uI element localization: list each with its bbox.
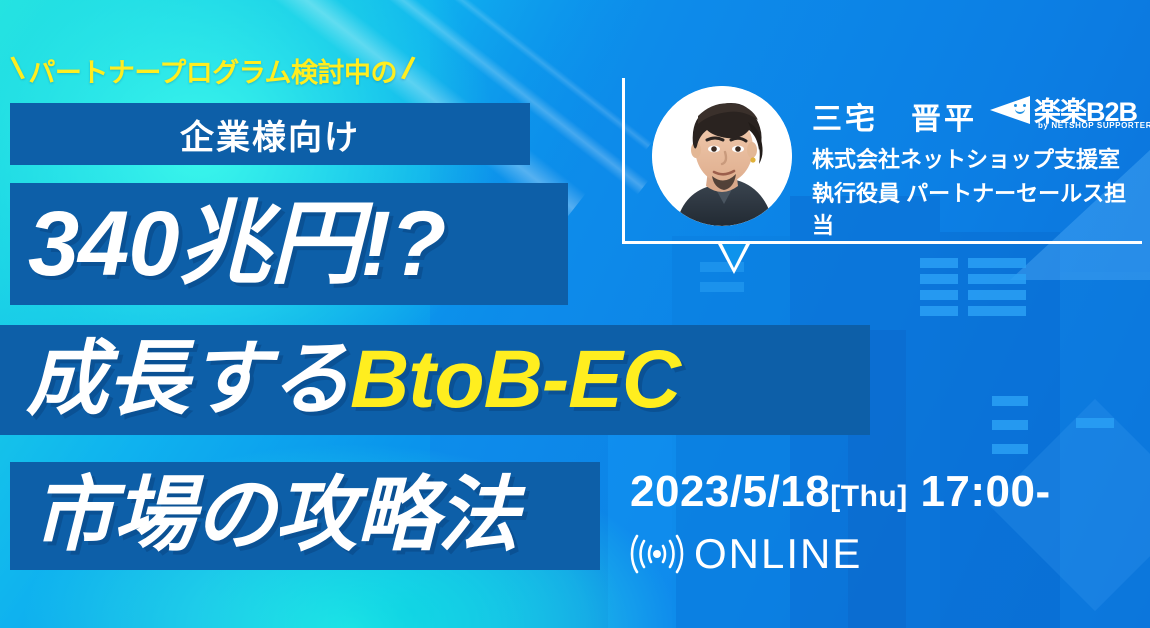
slash-left-icon: \ (9, 49, 27, 87)
headline-2-plain: 成長する (26, 334, 350, 425)
decor-window-row (992, 444, 1028, 454)
event-datetime: 2023/5/18[Thu] 17:00- (630, 470, 1150, 514)
headline-3-text: 市場の攻略法 (32, 475, 518, 557)
headline-2-highlight: BtoB-EC (350, 334, 680, 425)
subtitle-text: 企業様向け (180, 110, 360, 159)
event-date: 2023/5/18 (630, 467, 830, 516)
headline-bar-1: 340兆円!? (10, 183, 568, 305)
decor-window-row (1076, 418, 1114, 428)
kicker-line: \ パートナープログラム検討中の / (14, 48, 554, 92)
speaker-name: 三宅 晋平 (812, 94, 977, 138)
decor-window-row (920, 274, 958, 284)
headline-group: \ パートナープログラム検討中の / 企業様向け 340兆円!? 成長するBto… (0, 0, 640, 628)
decor-window-row (968, 290, 1026, 300)
decor-window-row (992, 420, 1028, 430)
headline-1-text: 340兆円!? (28, 198, 445, 290)
speaker-title: 執行役員 パートナーセールス担当 (812, 176, 1142, 240)
decor-window-row (920, 306, 958, 316)
headline-bar-3: 市場の攻略法 (10, 462, 600, 570)
wifi-broadcast-icon (630, 533, 684, 575)
headline-2-text: 成長するBtoB-EC (26, 339, 680, 421)
event-time: 17:00- (920, 467, 1050, 516)
speaker-block: 三宅 晋平 株式会社ネットショップ支援室 執行役員 パートナーセールス担当 楽楽… (622, 78, 1142, 246)
decor-window-row (968, 258, 1026, 268)
speech-bubble-tail-inner (722, 244, 746, 268)
decor-window-row (968, 274, 1026, 284)
event-info: 2023/5/18[Thu] 17:00- ONLINE (630, 470, 1150, 610)
decor-window-row (700, 282, 744, 292)
event-mode: ONLINE (630, 530, 1150, 578)
event-mode-label: ONLINE (694, 530, 862, 578)
headline-bar-2: 成長するBtoB-EC (0, 325, 870, 435)
event-day-of-week: [Thu] (830, 480, 907, 513)
decor-window-row (968, 306, 1026, 316)
avatar (652, 86, 792, 226)
decor-window-row (920, 290, 958, 300)
slash-right-icon: / (399, 49, 417, 87)
smiley-face-icon (1012, 104, 1030, 116)
decor-window-row (920, 258, 958, 268)
subtitle-bar: 企業様向け (10, 103, 530, 165)
speaker-company: 株式会社ネットショップ支援室 (812, 142, 1120, 174)
kicker-text: パートナープログラム検討中の (28, 51, 397, 90)
decor-window-row (992, 396, 1028, 406)
webinar-banner: \ パートナープログラム検討中の / 企業様向け 340兆円!? 成長するBto… (0, 0, 1150, 628)
rakuraku-b2b-logo: 楽楽B2B by NETSHOP SUPPORTERS (990, 90, 1142, 138)
logo-tagline: by NETSHOP SUPPORTERS (1038, 121, 1150, 130)
